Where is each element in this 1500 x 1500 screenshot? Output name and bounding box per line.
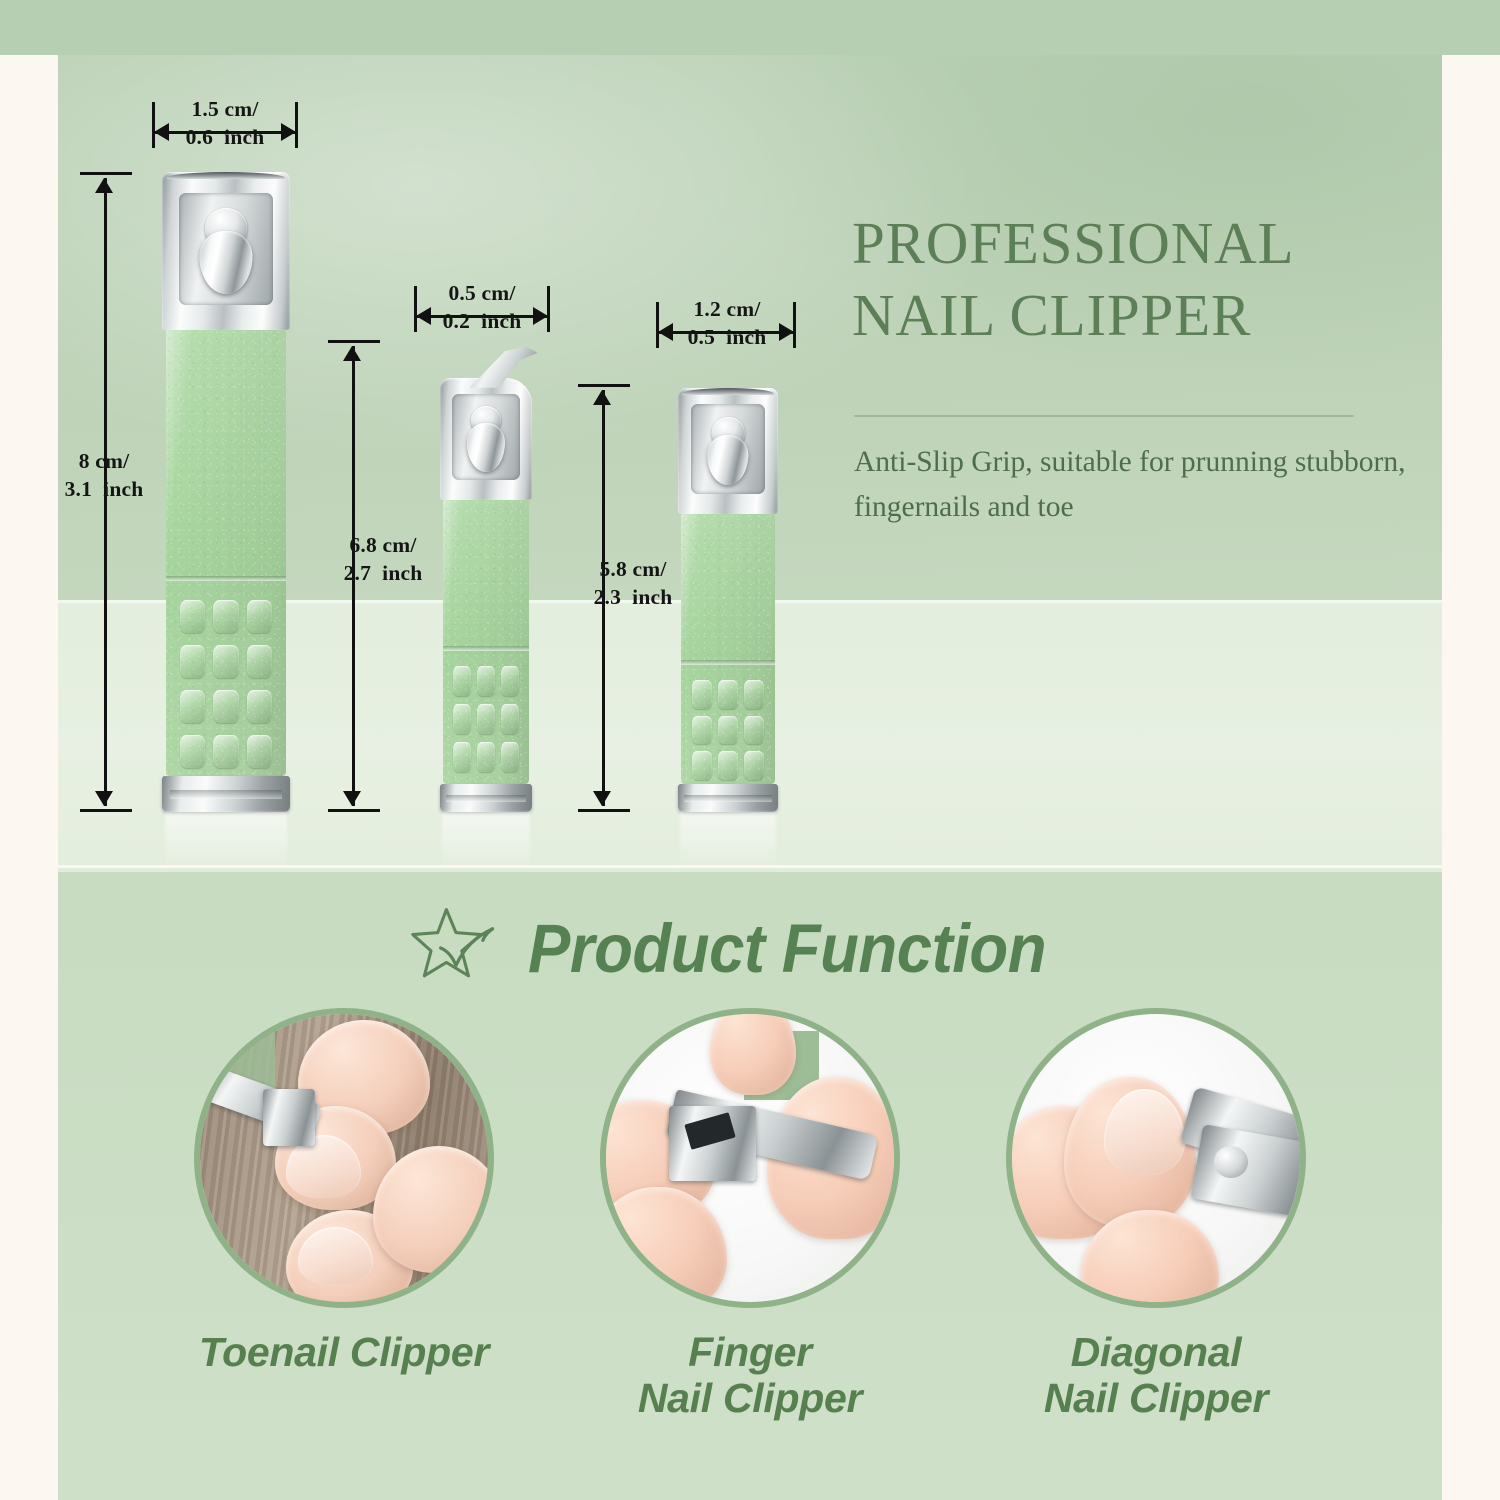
dimension-clipper1-width: 1.5 cm/ 0.6 inch [152, 100, 298, 162]
dimension-clipper3-width: 1.2 cm/ 0.5 inch [656, 300, 796, 362]
card-caption: Toenail Clipper [199, 1330, 489, 1376]
star-check-icon [408, 900, 504, 996]
clipper1-reflection [165, 812, 288, 870]
dimension-clipper3-height: 5.8 cm/ 2.3 inch [572, 384, 632, 812]
clipper1-anti-slip-bumps [180, 600, 272, 768]
clipper1-grip-seam [166, 576, 286, 581]
clipper2-chrome-head [440, 378, 532, 500]
card-caption: Finger Nail Clipper [638, 1330, 862, 1422]
product-description: Anti-Slip Grip, suitable for prunning st… [854, 440, 1424, 530]
mini-clipper-head [263, 1089, 315, 1147]
dimension-clipper3-height-label: 5.8 cm/ 2.3 inch [548, 556, 718, 611]
clipper2-base-plate [440, 784, 532, 812]
infographic-root: 1.5 cm/ 0.6 inch 8 cm/ 3.1 inch 0.5 cm/ … [0, 0, 1500, 1500]
dimension-clipper1-height: 8 cm/ 3.1 inch [74, 172, 134, 812]
caption-line-1: Finger [638, 1330, 862, 1376]
caption-line-2: Nail Clipper [1044, 1376, 1268, 1422]
diagonal-nail-clipper-photo[interactable] [1006, 1008, 1306, 1308]
dimension-clipper1-width-label: 1.5 cm/ 0.6 inch [130, 96, 320, 151]
clipper3-top-edge [682, 388, 774, 395]
caption-line-1: Toenail Clipper [199, 1330, 489, 1376]
clipper3-thumb-lever [707, 435, 748, 485]
function-card[interactable]: Diagonal Nail Clipper [1001, 1008, 1311, 1422]
clipper3-reflection [680, 812, 776, 870]
toenail-clipper-photo[interactable] [194, 1008, 494, 1308]
clipper-rivet [1214, 1146, 1249, 1178]
clipper2-anti-slip-bumps [453, 666, 519, 772]
frame-right-band [1442, 55, 1500, 1500]
dimension-clipper2-width-label: 0.5 cm/ 0.2 inch [390, 280, 574, 335]
product-function-header: Product Function [58, 900, 1442, 996]
caption-line-2: Nail Clipper [638, 1376, 862, 1422]
clipper3-chrome-head [678, 388, 778, 514]
clipper2-thumb-lever [467, 423, 505, 472]
clipper1-lever-plate [179, 193, 274, 305]
frame-left-band [0, 55, 58, 1500]
clipper2-grip-seam [443, 646, 530, 651]
clipper3-anti-slip-bumps [692, 680, 764, 780]
clipper1-top-edge [167, 172, 285, 179]
clipper2-reflection [442, 812, 530, 870]
clipper1-thumb-lever [199, 231, 252, 294]
product-function-title: Product Function [528, 914, 1046, 983]
caption-line-1: Diagonal [1044, 1330, 1268, 1376]
function-cards-row: Toenail Clipper [58, 1008, 1442, 1422]
clipper3-lever-plate [691, 404, 765, 493]
dimension-clipper3-width-label: 1.2 cm/ 0.5 inch [634, 296, 820, 351]
function-card[interactable]: Finger Nail Clipper [595, 1008, 905, 1422]
clipper3-grip-seam [681, 660, 775, 665]
headline-line-1: PROFESSIONAL [852, 208, 1432, 280]
page-title: PROFESSIONAL NAIL CLIPPER [852, 208, 1432, 352]
clipper-medium-diagonal [440, 378, 532, 812]
card-caption: Diagonal Nail Clipper [1044, 1330, 1268, 1422]
dimension-clipper2-height: 6.8 cm/ 2.7 inch [322, 340, 382, 812]
clipper3-base-plate [678, 784, 778, 812]
clipper1-chrome-head [162, 172, 290, 330]
clipper2-lever-plate [452, 394, 520, 481]
function-card[interactable]: Toenail Clipper [189, 1008, 499, 1422]
headline-divider [854, 415, 1354, 417]
clipper1-base-plate [162, 776, 290, 812]
dimension-clipper2-height-label: 6.8 cm/ 2.7 inch [298, 532, 468, 587]
headline-line-2: NAIL CLIPPER [852, 280, 1432, 352]
finger-upper [710, 1014, 796, 1095]
product-function-section: Product Function [58, 868, 1442, 1500]
dimension-clipper2-width: 0.5 cm/ 0.2 inch [414, 284, 550, 346]
frame-top-strip [0, 0, 1500, 55]
finger-nail-clipper-photo[interactable] [600, 1008, 900, 1308]
